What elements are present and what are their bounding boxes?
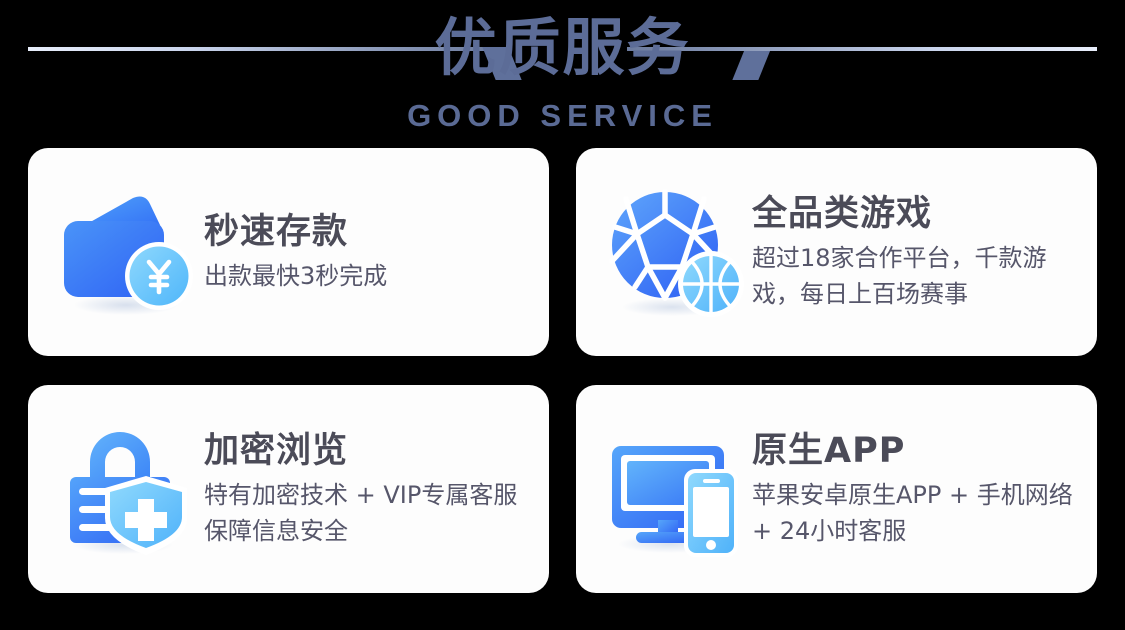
feature-card-title: 全品类游戏: [752, 192, 1083, 236]
feature-card[interactable]: 秒速存款 出款最快3秒完成: [28, 148, 549, 356]
feature-card-title: 加密浏览: [204, 429, 535, 473]
page-subtitle: GOOD SERVICE: [0, 97, 1125, 135]
feature-card-title: 秒速存款: [204, 210, 535, 254]
feature-card-grid: 秒速存款 出款最快3秒完成: [28, 148, 1097, 593]
feature-card-subtitle: 苹果安卓原生APP + 手机网络 + 24小时客服: [752, 477, 1083, 549]
feature-card-text: 秒速存款 出款最快3秒完成: [204, 210, 549, 294]
feature-card-text: 原生APP 苹果安卓原生APP + 手机网络 + 24小时客服: [752, 429, 1097, 549]
feature-card-text: 加密浏览 特有加密技术 + VIP专属客服保障信息安全: [204, 429, 549, 549]
feature-card[interactable]: 全品类游戏 超过18家合作平台，千款游戏，每日上百场赛事: [576, 148, 1097, 356]
soccer-basketball-icon: [598, 177, 748, 327]
feature-card[interactable]: 加密浏览 特有加密技术 + VIP专属客服保障信息安全: [28, 385, 549, 593]
monitor-phone-icon: [598, 414, 748, 564]
feature-card-subtitle: 超过18家合作平台，千款游戏，每日上百场赛事: [752, 240, 1083, 312]
feature-card[interactable]: 原生APP 苹果安卓原生APP + 手机网络 + 24小时客服: [576, 385, 1097, 593]
page-title: 优质服务: [0, 8, 1125, 88]
feature-card-subtitle: 出款最快3秒完成: [204, 258, 535, 294]
feature-card-text: 全品类游戏 超过18家合作平台，千款游戏，每日上百场赛事: [752, 192, 1097, 312]
feature-card-subtitle: 特有加密技术 + VIP专属客服保障信息安全: [204, 477, 535, 549]
lock-shield-icon: [50, 414, 200, 564]
page-header: 优质服务 GOOD SERVICE: [0, 0, 1125, 145]
feature-card-title: 原生APP: [752, 429, 1083, 473]
wallet-yen-icon: [50, 177, 200, 327]
